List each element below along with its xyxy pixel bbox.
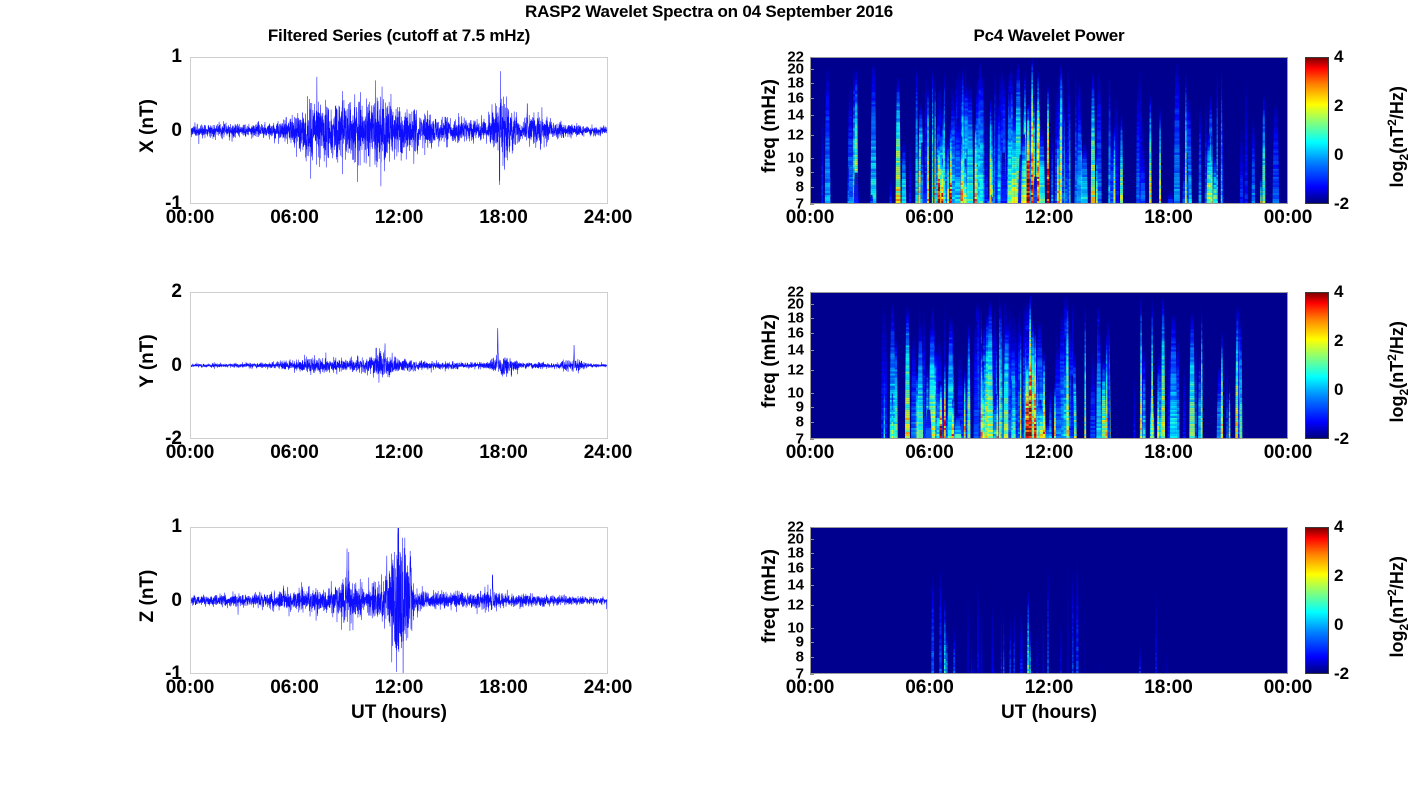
spectrogram-xtick-x-1: 06:00 [905,207,954,229]
colorbar-label-base: 2 [1397,389,1411,396]
spectrogram-xtick-y-0: 00:00 [786,442,835,464]
spectrogram-freq-tickmark-y-18 [810,318,814,319]
spectrogram-xtick-z-0: 00:00 [786,677,835,699]
timeseries-trace-z [191,528,607,673]
timeseries-ytick-z-1: 0 [140,590,182,612]
spectrogram-xtick-y-1: 06:00 [905,442,954,464]
spectrogram-freq-tick-y-14: 14 [758,342,804,359]
spectrogram-freq-tickmark-y-20 [810,304,814,305]
spectrogram-freq-tickmark-z-16 [810,568,814,569]
colorbar-label-tail: /Hz) [1387,556,1407,589]
spectrogram-freq-tickmark-x-12 [810,135,814,136]
spectrogram-xtick-y-3: 18:00 [1144,442,1193,464]
colorbar-x-tick-3: -2 [1334,194,1349,214]
spectrogram-freq-tickmark-z-7 [810,674,814,675]
timeseries-ytick-z-0: 1 [140,516,182,538]
timeseries-xtick-z-4: 24:00 [584,677,633,699]
colorbar-y [1305,292,1329,439]
colorbar-x-tick-0: 4 [1334,47,1343,67]
spectrogram-freq-tickmark-x-10 [810,158,814,159]
timeseries-xtick-y-0: 00:00 [166,442,215,464]
timeseries-axes-x [190,57,608,204]
spectrogram-freq-tick-x-8: 8 [758,178,804,195]
left-column-title: Filtered Series (cutoff at 7.5 mHz) [190,26,608,46]
spectrogram-freq-tickmark-x-20 [810,69,814,70]
spectrogram-xtick-z-3: 18:00 [1144,677,1193,699]
spectrogram-freq-tickmark-x-8 [810,187,814,188]
spectrogram-freq-tickmark-z-18 [810,553,814,554]
figure-canvas: RASP2 Wavelet Spectra on 04 September 20… [0,0,1418,788]
colorbar-label-base: 2 [1397,154,1411,161]
colorbar-z [1305,527,1329,674]
timeseries-xtick-z-0: 00:00 [166,677,215,699]
spectrogram-freq-tickmark-z-12 [810,605,814,606]
spectrogram-freq-tickmark-x-16 [810,98,814,99]
timeseries-ytick-y-1: 0 [140,355,182,377]
timeseries-xtick-y-2: 12:00 [375,442,424,464]
spectrogram-xtick-y-4: 00:00 [1264,442,1313,464]
spectrogram-image-z [811,528,1287,673]
spectrogram-freq-tickmark-y-10 [810,393,814,394]
colorbar-label-log: log [1387,395,1407,422]
colorbar-y-tick-0: 4 [1334,282,1343,302]
spectrogram-freq-tick-x-14: 14 [758,107,804,124]
colorbar-y-tick-2: 0 [1334,380,1343,400]
timeseries-xtick-y-1: 06:00 [270,442,319,464]
colorbar-x [1305,57,1329,204]
right-column-title: Pc4 Wavelet Power [810,26,1288,46]
spectrogram-freq-tickmark-y-9 [810,407,814,408]
spectrogram-xtick-x-0: 00:00 [786,207,835,229]
colorbar-x-tick-2: 0 [1334,145,1343,165]
spectrogram-freq-tickmark-x-22 [810,57,814,58]
timeseries-trace-x [191,58,607,203]
spectrogram-freq-tickmark-x-9 [810,172,814,173]
timeseries-xtick-x-3: 18:00 [479,207,528,229]
colorbar-label-base: 2 [1397,624,1411,631]
spectrogram-freq-tick-z-16: 16 [758,559,804,576]
spectrogram-freq-tickmark-z-14 [810,585,814,586]
spectrogram-xlabel-right: UT (hours) [949,702,1149,724]
spectrogram-axes-z [810,527,1288,674]
timeseries-ytick-x-0: 1 [140,46,182,68]
colorbar-x-tick-1: 2 [1334,96,1343,116]
colorbar-z-tick-1: 2 [1334,566,1343,586]
colorbar-label-open: (nT [1387,361,1407,389]
timeseries-xtick-z-1: 06:00 [270,677,319,699]
spectrogram-xtick-z-2: 12:00 [1025,677,1074,699]
spectrogram-xtick-z-1: 06:00 [905,677,954,699]
colorbar-x-label: log2(nT2/Hz) [1385,57,1411,217]
spectrogram-freq-tickmark-x-14 [810,115,814,116]
timeseries-xtick-y-4: 24:00 [584,442,633,464]
timeseries-axes-y [190,292,608,439]
spectrogram-image-y [811,293,1287,438]
spectrogram-freq-tickmark-y-16 [810,333,814,334]
spectrogram-freq-tickmark-y-8 [810,422,814,423]
spectrogram-xtick-y-2: 12:00 [1025,442,1074,464]
spectrogram-xtick-x-4: 00:00 [1264,207,1313,229]
timeseries-xtick-z-2: 12:00 [375,677,424,699]
colorbar-y-tick-3: -2 [1334,429,1349,449]
colorbar-label-log: log [1387,630,1407,657]
colorbar-label-open: (nT [1387,126,1407,154]
spectrogram-freq-tick-z-8: 8 [758,648,804,665]
timeseries-ytick-y-0: 2 [140,281,182,303]
timeseries-axes-z [190,527,608,674]
colorbar-z-tick-2: 0 [1334,615,1343,635]
spectrogram-freq-tick-y-8: 8 [758,413,804,430]
timeseries-xtick-x-2: 12:00 [375,207,424,229]
spectrogram-image-x [811,58,1287,203]
colorbar-z-tick-0: 4 [1334,517,1343,537]
spectrogram-freq-tickmark-z-9 [810,642,814,643]
spectrogram-freq-tickmark-y-14 [810,350,814,351]
spectrogram-freq-tickmark-z-8 [810,657,814,658]
spectrogram-freq-tick-y-16: 16 [758,324,804,341]
colorbar-label-exp: 2 [1385,119,1399,126]
spectrogram-freq-tickmark-y-7 [810,439,814,440]
spectrogram-freq-tick-z-14: 14 [758,577,804,594]
spectrogram-freq-tickmark-y-12 [810,370,814,371]
colorbar-z-label: log2(nT2/Hz) [1385,527,1411,687]
spectrogram-freq-tickmark-y-22 [810,292,814,293]
colorbar-label-open: (nT [1387,596,1407,624]
spectrogram-freq-tickmark-x-7 [810,204,814,205]
timeseries-xtick-y-3: 18:00 [479,442,528,464]
timeseries-xtick-x-4: 24:00 [584,207,633,229]
spectrogram-axes-x [810,57,1288,204]
timeseries-xtick-x-0: 00:00 [166,207,215,229]
spectrogram-freq-tick-x-12: 12 [758,126,804,143]
colorbar-y-tick-1: 2 [1334,331,1343,351]
spectrogram-xtick-x-3: 18:00 [1144,207,1193,229]
spectrogram-freq-tick-z-12: 12 [758,596,804,613]
spectrogram-xtick-z-4: 00:00 [1264,677,1313,699]
colorbar-label-exp: 2 [1385,354,1399,361]
spectrogram-freq-tickmark-z-10 [810,628,814,629]
timeseries-ytick-x-1: 0 [140,120,182,142]
spectrogram-freq-tick-y-12: 12 [758,361,804,378]
spectrogram-freq-tickmark-x-18 [810,83,814,84]
colorbar-label-exp: 2 [1385,589,1399,596]
spectrogram-freq-tick-x-16: 16 [758,89,804,106]
colorbar-y-label: log2(nT2/Hz) [1385,292,1411,452]
colorbar-label-tail: /Hz) [1387,86,1407,119]
timeseries-trace-y [191,293,607,438]
timeseries-xtick-z-3: 18:00 [479,677,528,699]
spectrogram-xtick-x-2: 12:00 [1025,207,1074,229]
colorbar-z-tick-3: -2 [1334,664,1349,684]
spectrogram-freq-tickmark-z-20 [810,539,814,540]
colorbar-label-log: log [1387,160,1407,187]
timeseries-xlabel-left: UT (hours) [299,702,499,724]
timeseries-xtick-x-1: 06:00 [270,207,319,229]
spectrogram-freq-tickmark-z-22 [810,527,814,528]
figure-suptitle: RASP2 Wavelet Spectra on 04 September 20… [0,2,1418,22]
colorbar-label-tail: /Hz) [1387,321,1407,354]
spectrogram-axes-y [810,292,1288,439]
